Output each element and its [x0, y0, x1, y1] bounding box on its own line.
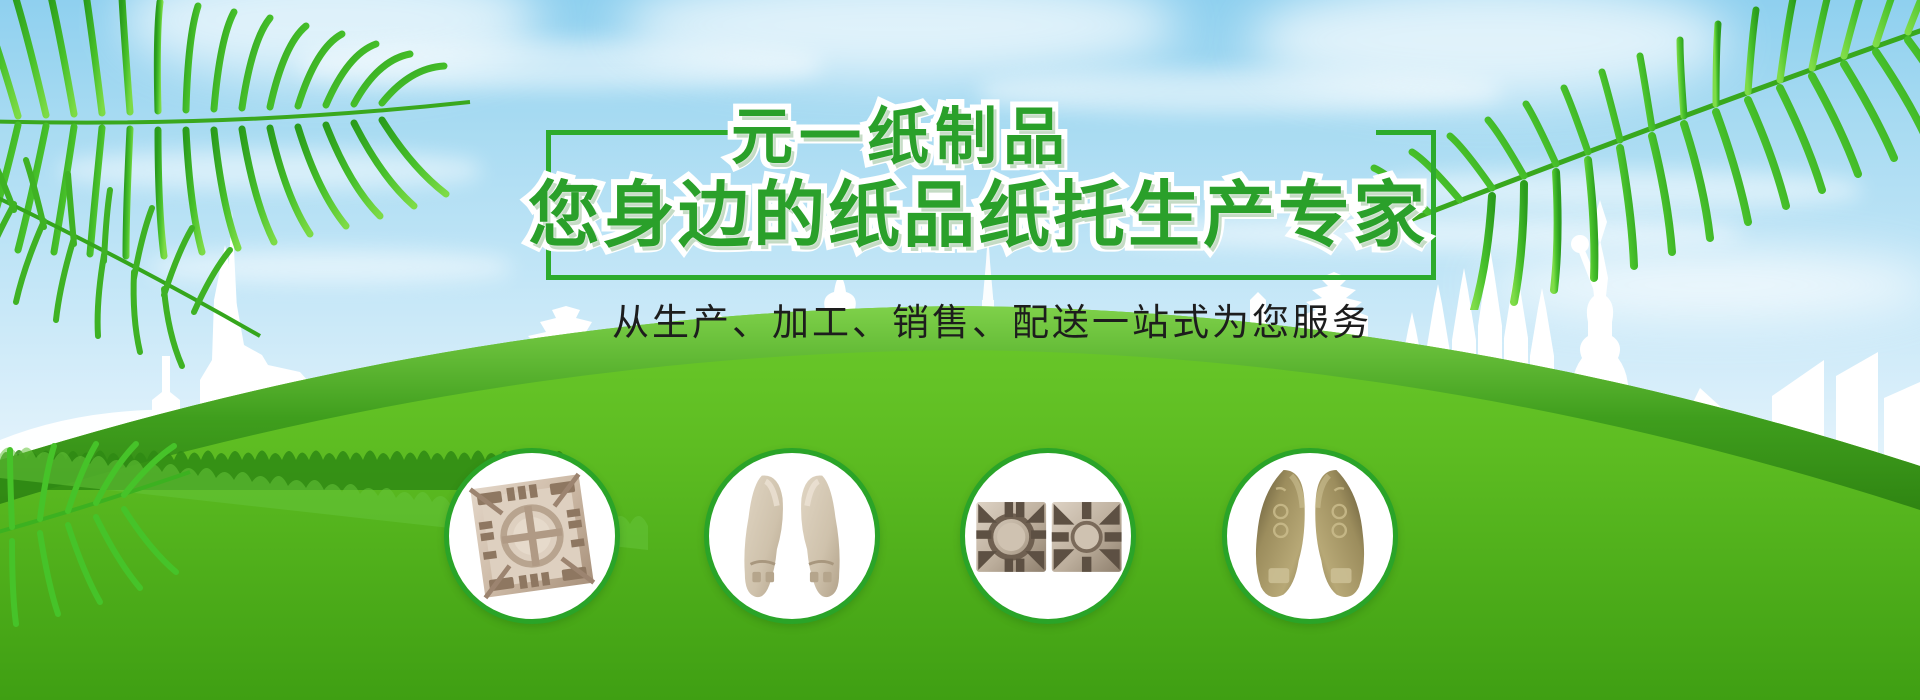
- palm-frond-icon: [0, 380, 260, 640]
- molded-pulp-shoe-icon: [709, 453, 875, 619]
- product-circle-paper-pulp-corner-pair[interactable]: [960, 448, 1136, 624]
- molded-pulp-insole-icon: [1227, 453, 1393, 619]
- headline-line-2: 您身边的纸品纸托生产专家: [528, 156, 1428, 261]
- molded-pulp-tray-icon: [449, 453, 615, 619]
- molded-pulp-corner-icon: [965, 453, 1131, 619]
- headline-frame: 元一纸制品 您身边的纸品纸托生产专家: [546, 130, 1436, 280]
- frame-top-right-rule: [1376, 130, 1436, 135]
- promo-banner: 元一纸制品 您身边的纸品纸托生产专家 从生产、加工、销售、配送一站式为您服务: [0, 0, 1920, 700]
- product-circle-paper-pulp-shoe-form[interactable]: [704, 448, 880, 624]
- palm-frond-icon: [0, 140, 270, 380]
- product-circle-paper-pulp-insole-pair[interactable]: [1222, 448, 1398, 624]
- product-circle-paper-pulp-square-tray[interactable]: [444, 448, 620, 624]
- banner-subtitle: 从生产、加工、销售、配送一站式为您服务: [612, 292, 1372, 346]
